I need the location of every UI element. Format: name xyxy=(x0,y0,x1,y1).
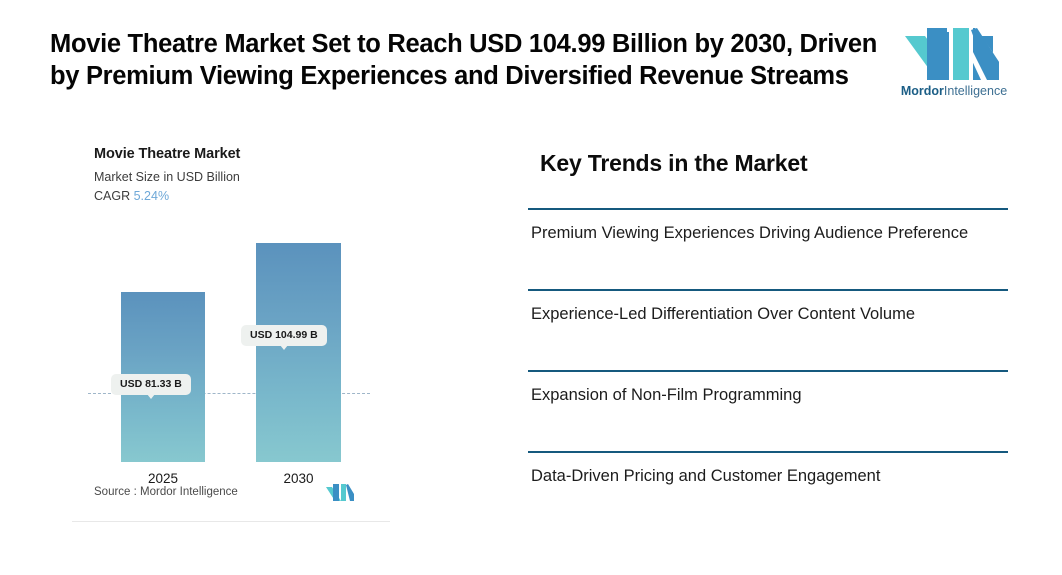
mordor-m-logo-icon xyxy=(326,483,354,501)
trend-label: Experience-Led Differentiation Over Cont… xyxy=(531,302,991,327)
bar-2030: 2030 xyxy=(256,243,341,462)
key-trends-heading: Key Trends in the Market xyxy=(540,150,807,177)
chart-source-row: Source : Mordor Intelligence xyxy=(94,483,372,505)
mordor-m-logo-icon xyxy=(903,22,1003,80)
bar-value-label-2030: USD 104.99 B xyxy=(241,325,327,346)
trend-label: Data-Driven Pricing and Customer Engagem… xyxy=(531,464,991,489)
chart-cagr: CAGR 5.24% xyxy=(94,189,169,203)
market-size-chart-card: Movie Theatre Market Market Size in USD … xyxy=(72,132,390,522)
cagr-value: 5.24% xyxy=(134,189,169,203)
trend-list-item[interactable]: Data-Driven Pricing and Customer Engagem… xyxy=(528,451,1008,511)
chart-subtitle: Market Size in USD Billion xyxy=(94,170,240,184)
chart-source-label: Source : Mordor Intelligence xyxy=(94,486,238,498)
chart-plot-area: 2025 2030 USD 81.33 B USD 104.99 B xyxy=(72,224,390,474)
brand-wordmark: MordorIntelligence xyxy=(898,84,1010,98)
brand-name-secondary: Intelligence xyxy=(944,84,1007,98)
cagr-label: CAGR xyxy=(94,189,130,203)
brand-logo: MordorIntelligence xyxy=(898,22,1010,102)
brand-name-primary: Mordor xyxy=(901,84,944,98)
trend-list-item[interactable]: Expansion of Non-Film Programming xyxy=(528,370,1008,451)
page-header: Movie Theatre Market Set to Reach USD 10… xyxy=(0,0,1062,120)
trend-list-item[interactable]: Experience-Led Differentiation Over Cont… xyxy=(528,289,1008,370)
bar-value-label-2025: USD 81.33 B xyxy=(111,374,191,395)
trend-label: Premium Viewing Experiences Driving Audi… xyxy=(531,221,991,246)
page-title: Movie Theatre Market Set to Reach USD 10… xyxy=(50,28,895,92)
trend-label: Expansion of Non-Film Programming xyxy=(531,383,991,408)
chart-title: Movie Theatre Market xyxy=(94,146,240,162)
trend-list-item[interactable]: Premium Viewing Experiences Driving Audi… xyxy=(528,208,1008,289)
